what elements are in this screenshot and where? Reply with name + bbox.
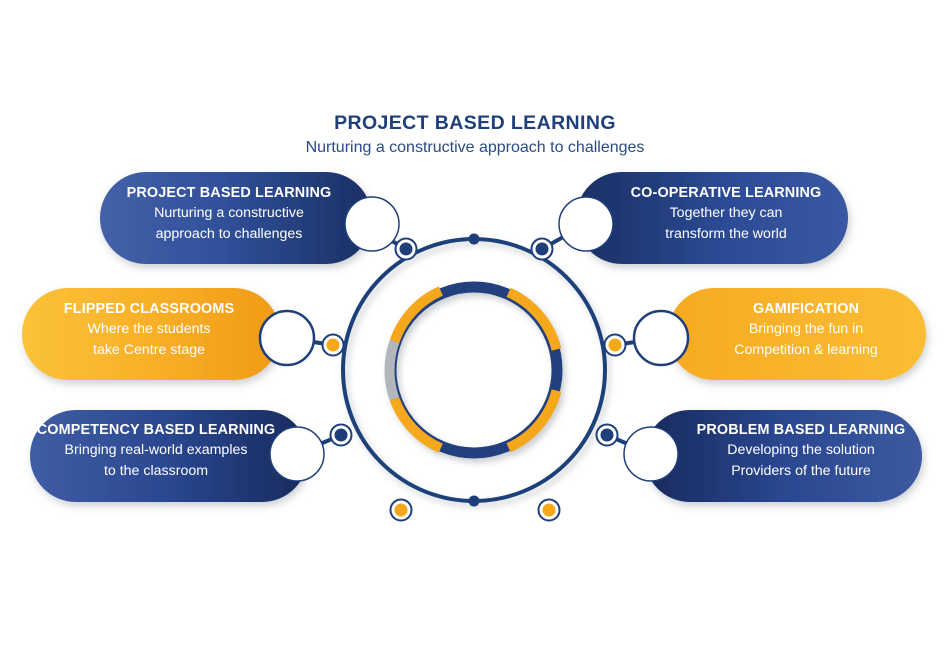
ring-marker-top-dot — [469, 234, 480, 245]
card-title-gamification: GAMIFICATION — [672, 299, 928, 319]
card-desc-line2-competency-based-learning: to the classroom — [20, 461, 310, 482]
inner-ring — [389, 287, 557, 453]
node-mid-right[interactable] — [605, 335, 626, 356]
card-title-flipped-classrooms: FLIPPED CLASSROOMS — [26, 299, 282, 319]
card-desc-line1-co-operative-learning: Together they can — [586, 203, 850, 224]
inner-arc-left-gray — [389, 342, 394, 400]
card-label-problem-based-learning: PROBLEM BASED LEARNING Developing the so… — [646, 420, 936, 482]
card-desc-line2-flipped-classrooms: take Centre stage — [26, 340, 282, 361]
card-desc-line1-problem-based-learning: Developing the solution — [646, 440, 936, 461]
node-top-left[interactable] — [396, 239, 417, 260]
card-desc-line2-problem-based-learning: Providers of the future — [646, 461, 936, 482]
card-label-gamification: GAMIFICATION Bringing the fun in Competi… — [672, 299, 928, 361]
card-label-co-operative-learning: CO-OPERATIVE LEARNING Together they can … — [586, 183, 850, 245]
node-mid-left[interactable] — [323, 335, 344, 356]
outer-ring — [343, 239, 605, 501]
card-desc-line2-co-operative-learning: transform the world — [586, 224, 850, 245]
card-label-competency-based-learning: COMPETENCY BASED LEARNING Bringing real-… — [20, 420, 310, 482]
inner-arc-upper-right-orange — [509, 292, 557, 349]
node-bottom-right[interactable] — [539, 500, 560, 521]
card-title-problem-based-learning: PROBLEM BASED LEARNING — [646, 420, 936, 440]
diagram-canvas: PROJECT BASED LEARNING Nurturing a const… — [0, 0, 950, 650]
card-title-project-based-learning: PROJECT BASED LEARNING — [104, 183, 368, 203]
node-bottom-left[interactable] — [391, 500, 412, 521]
card-desc-line1-competency-based-learning: Bringing real-world examples — [20, 440, 310, 461]
ring-marker-bottom-dot — [469, 496, 480, 507]
card-desc-line1-gamification: Bringing the fun in — [672, 319, 928, 340]
card-desc-line2-project-based-learning: approach to challenges — [104, 224, 368, 245]
card-title-co-operative-learning: CO-OPERATIVE LEARNING — [586, 183, 850, 203]
card-label-project-based-learning: PROJECT BASED LEARNING Nurturing a const… — [104, 183, 368, 245]
connector-nodes — [323, 239, 626, 521]
card-label-flipped-classrooms: FLIPPED CLASSROOMS Where the students ta… — [26, 299, 282, 361]
node-top-right[interactable] — [532, 239, 553, 260]
node-low-right[interactable] — [597, 425, 618, 446]
card-desc-line1-flipped-classrooms: Where the students — [26, 319, 282, 340]
node-low-left[interactable] — [331, 425, 352, 446]
card-title-competency-based-learning: COMPETENCY BASED LEARNING — [20, 420, 310, 440]
card-desc-line1-project-based-learning: Nurturing a constructive — [104, 203, 368, 224]
inner-arc-lower-right-orange — [509, 391, 557, 448]
card-desc-line2-gamification: Competition & learning — [672, 340, 928, 361]
